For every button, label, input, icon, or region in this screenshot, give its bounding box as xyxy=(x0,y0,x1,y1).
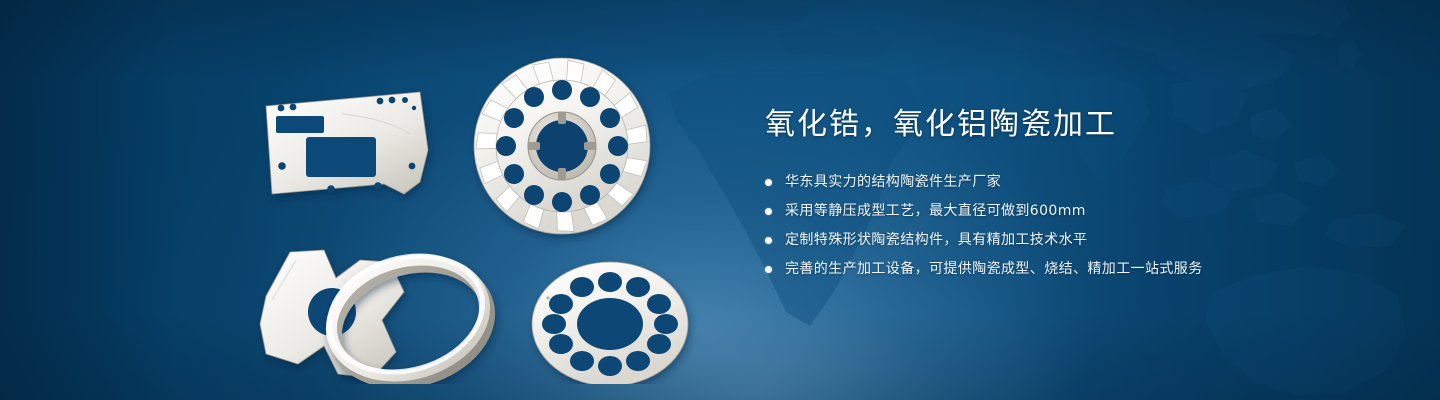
feature-list: 华东具实力的结构陶瓷件生产厂家 采用等静压成型工艺，最大直径可做到600mm 定… xyxy=(765,171,1385,280)
product-photo-group xyxy=(232,34,732,384)
ceramic-machined-plate-photo xyxy=(266,92,428,194)
hero-banner: 氧化锆，氧化铝陶瓷加工 华东具实力的结构陶瓷件生产厂家 采用等静压成型工艺，最大… xyxy=(0,0,1440,400)
list-item-label: 完善的生产加工设备，可提供陶瓷成型、烧结、精加工一站式服务 xyxy=(785,258,1203,280)
ceramic-impeller-photo xyxy=(474,58,651,235)
bullet-dot-icon xyxy=(765,237,772,244)
bullet-dot-icon xyxy=(765,179,772,186)
ceramic-rings-photo xyxy=(316,239,503,384)
list-item: 采用等静压成型工艺，最大直径可做到600mm xyxy=(765,200,1385,222)
list-item: 完善的生产加工设备，可提供陶瓷成型、烧结、精加工一站式服务 xyxy=(765,258,1385,280)
banner-copy: 氧化锆，氧化铝陶瓷加工 华东具实力的结构陶瓷件生产厂家 采用等静压成型工艺，最大… xyxy=(765,103,1385,287)
ceramic-perforated-disc-photo xyxy=(532,262,688,384)
list-item: 华东具实力的结构陶瓷件生产厂家 xyxy=(765,171,1385,193)
bullet-dot-icon xyxy=(765,266,772,273)
page-title: 氧化锆，氧化铝陶瓷加工 xyxy=(765,103,1385,147)
list-item: 定制特殊形状陶瓷结构件，具有精加工技术水平 xyxy=(765,229,1385,251)
list-item-label: 采用等静压成型工艺，最大直径可做到600mm xyxy=(785,200,1086,222)
bullet-dot-icon xyxy=(765,208,772,215)
list-item-label: 定制特殊形状陶瓷结构件，具有精加工技术水平 xyxy=(785,229,1087,251)
list-item-label: 华东具实力的结构陶瓷件生产厂家 xyxy=(785,171,1001,193)
